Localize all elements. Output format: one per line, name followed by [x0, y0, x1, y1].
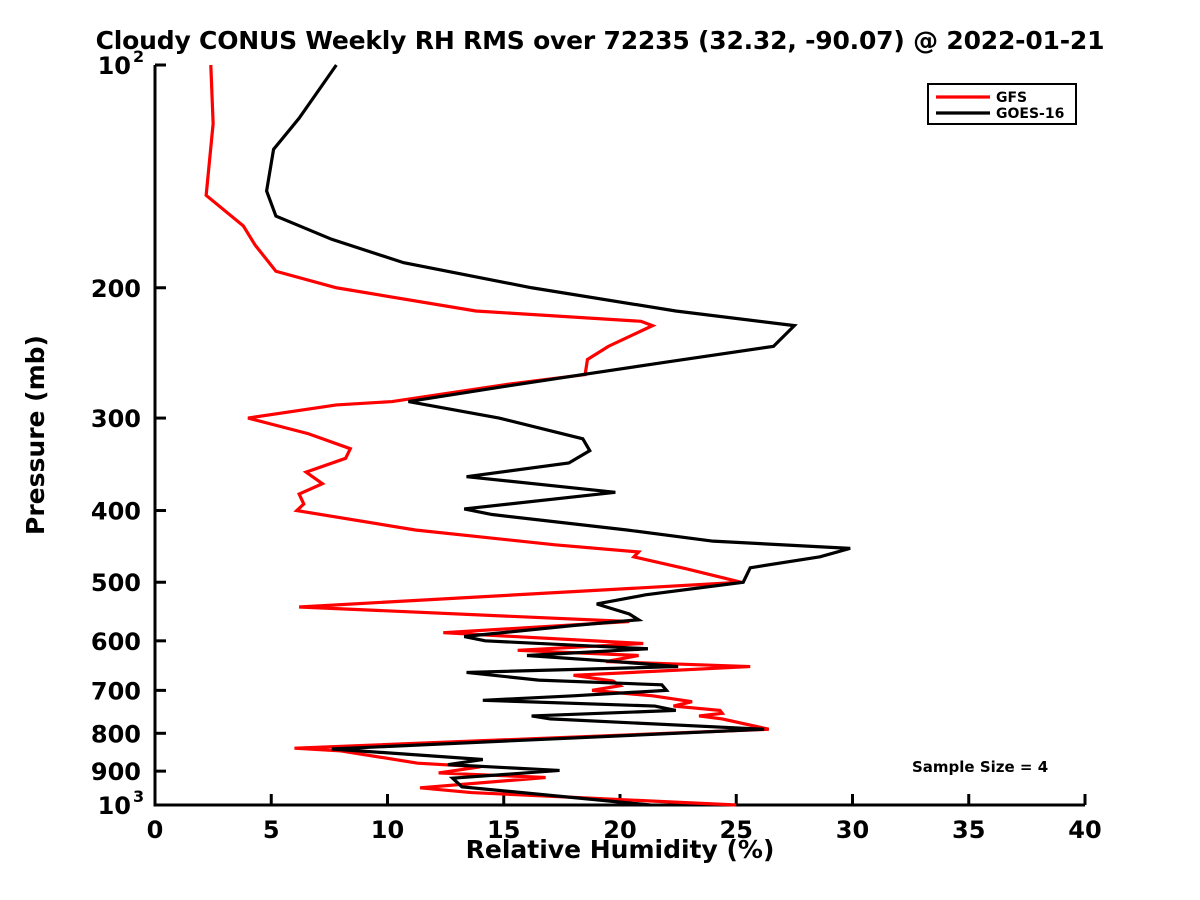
x-tick-label: 35: [952, 816, 985, 844]
chart-canvas: Cloudy CONUS Weekly RH RMS over 72235 (3…: [0, 0, 1200, 900]
legend-label-goes-16: GOES-16: [996, 106, 1064, 122]
y-tick-label: 700: [91, 677, 141, 705]
svg-text:900: 900: [91, 758, 141, 786]
x-tick-label: 40: [1068, 816, 1101, 844]
svg-text:10: 10: [98, 792, 131, 820]
svg-text:700: 700: [91, 677, 141, 705]
svg-text:10: 10: [98, 52, 131, 80]
x-tick-label: 0: [147, 816, 164, 844]
x-tick-label: 5: [263, 816, 280, 844]
svg-text:2: 2: [133, 47, 144, 66]
relative-humidity-vs-pressure-plot: 0510152025303540 10220030040050060070080…: [0, 0, 1200, 900]
y-axis-title: Pressure (mb): [21, 335, 50, 535]
data-series-layer: [206, 65, 850, 805]
svg-text:400: 400: [91, 498, 141, 526]
y-tick-label: 300: [91, 405, 141, 433]
series-line-goes-16: [267, 65, 851, 805]
legend-label-gfs: GFS: [996, 90, 1027, 106]
y-tick-label: 800: [91, 720, 141, 748]
legend: GFSGOES-16: [928, 84, 1076, 124]
svg-text:3: 3: [133, 787, 144, 806]
svg-text:800: 800: [91, 720, 141, 748]
x-tick-label: 10: [371, 816, 404, 844]
svg-text:600: 600: [91, 628, 141, 656]
sample-size-annotation: Sample Size = 4: [912, 758, 1048, 776]
svg-text:200: 200: [91, 275, 141, 303]
svg-text:500: 500: [91, 569, 141, 597]
x-axis-title: Relative Humidity (%): [466, 835, 775, 864]
y-tick-label: 102: [98, 47, 145, 80]
series-line-gfs: [206, 65, 769, 805]
svg-text:300: 300: [91, 405, 141, 433]
y-tick-label: 200: [91, 275, 141, 303]
x-tick-label: 30: [836, 816, 869, 844]
y-tick-label: 600: [91, 628, 141, 656]
y-tick-label: 400: [91, 498, 141, 526]
y-tick-label: 103: [98, 787, 145, 820]
y-tick-label: 900: [91, 758, 141, 786]
y-tick-label: 500: [91, 569, 141, 597]
